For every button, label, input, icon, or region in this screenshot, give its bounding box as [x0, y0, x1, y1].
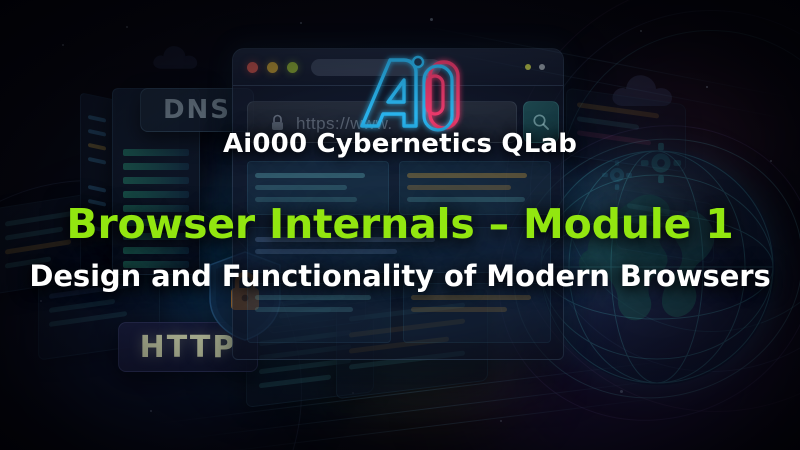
traffic-light-close-icon[interactable]: [247, 62, 258, 73]
page-subtitle: Design and Functionality of Modern Brows…: [0, 259, 800, 293]
ai000-logo-icon: [352, 52, 470, 140]
brand-title: Ai000 Cybernetics QLab: [0, 129, 800, 159]
spark: [620, 390, 623, 393]
traffic-light-minimize-icon[interactable]: [267, 62, 278, 73]
browser-content-area: [247, 157, 549, 349]
cloud-icon: [150, 42, 206, 72]
status-dot-idle: [539, 64, 545, 70]
page-title: Browser Internals – Module 1: [0, 200, 800, 248]
spark: [430, 18, 433, 21]
spark: [126, 26, 128, 28]
spark: [62, 44, 64, 46]
title-card-canvas: DNS HTTP https:/: [0, 0, 800, 450]
traffic-light-maximize-icon[interactable]: [287, 62, 298, 73]
spark: [300, 22, 302, 24]
spark: [500, 420, 502, 422]
